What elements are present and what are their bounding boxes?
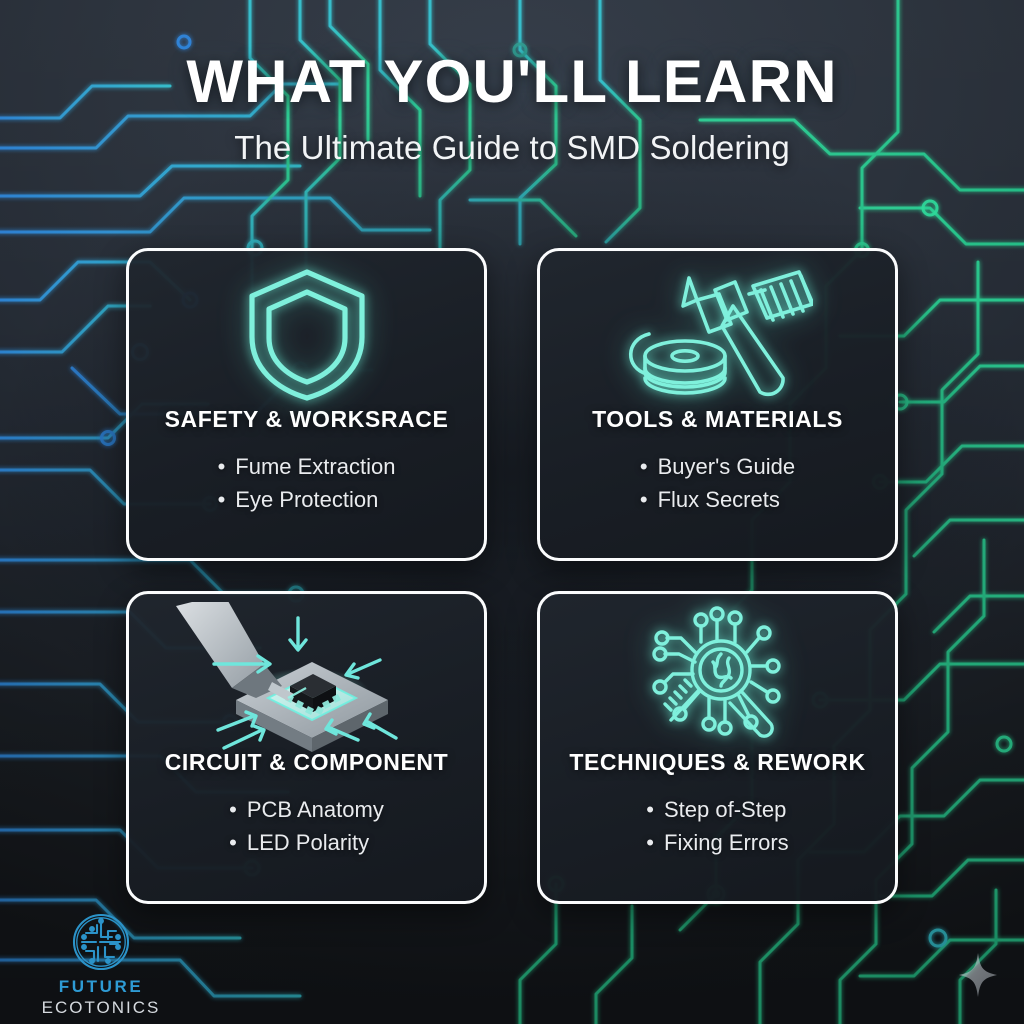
- card-icon-wrapper: [129, 594, 484, 749]
- card-icon-wrapper: [540, 251, 895, 406]
- magnifier-circuit-network-icon: [643, 604, 793, 750]
- header: WHAT YOU'LL LEARN The Ultimate Guide to …: [0, 0, 1024, 167]
- card-bullet-list: PCB Anatomy LED Polarity: [229, 794, 384, 859]
- brand-name-secondary: ECOTONICS: [42, 998, 161, 1018]
- soldering-iron-and-solder-spool-icon: [623, 268, 813, 400]
- list-item: LED Polarity: [229, 827, 384, 860]
- page-subtitle: The Ultimate Guide to SMD Soldering: [0, 129, 1024, 167]
- list-item: PCB Anatomy: [229, 794, 384, 827]
- card-tools-materials[interactable]: TOOLS & MATERIALS Buyer's Guide Flux Sec…: [537, 248, 898, 561]
- card-safety-workspace[interactable]: SAFETY & WORKSRACE Fume Extraction Eye P…: [126, 248, 487, 561]
- circuit-globe-emblem-icon: [70, 911, 132, 973]
- list-item: Flux Secrets: [640, 484, 795, 517]
- shield-icon: [241, 265, 373, 403]
- list-item: Buyer's Guide: [640, 451, 795, 484]
- page-title: WHAT YOU'LL LEARN: [0, 50, 1024, 113]
- card-title: CIRCUIT & COMPONENT: [165, 749, 449, 776]
- card-circuit-component[interactable]: CIRCUIT & COMPONENT PCB Anatomy LED Pola…: [126, 591, 487, 904]
- brand-logo[interactable]: FUTURE ECOTONICS: [26, 911, 176, 1018]
- card-title: SAFETY & WORKSRACE: [165, 406, 449, 433]
- list-item: Fixing Errors: [646, 827, 788, 860]
- feature-card-grid: SAFETY & WORKSRACE Fume Extraction Eye P…: [126, 248, 898, 904]
- card-icon-wrapper: [540, 594, 895, 749]
- card-title: TOOLS & MATERIALS: [592, 406, 843, 433]
- smd-chip-on-pcb-icon: [172, 602, 442, 752]
- card-bullet-list: Fume Extraction Eye Protection: [218, 451, 396, 516]
- card-icon-wrapper: [129, 251, 484, 406]
- list-item: Fume Extraction: [218, 451, 396, 484]
- card-bullet-list: Step of-Step Fixing Errors: [646, 794, 788, 859]
- sparkle-icon: [958, 952, 998, 998]
- card-techniques-rework[interactable]: TECHNIQUES & REWORK Step of-Step Fixing …: [537, 591, 898, 904]
- card-bullet-list: Buyer's Guide Flux Secrets: [640, 451, 795, 516]
- card-title: TECHNIQUES & REWORK: [569, 749, 865, 776]
- list-item: Step of-Step: [646, 794, 788, 827]
- brand-name-primary: FUTURE: [59, 977, 144, 997]
- list-item: Eye Protection: [218, 484, 396, 517]
- infographic-canvas: WHAT YOU'LL LEARN The Ultimate Guide to …: [0, 0, 1024, 1024]
